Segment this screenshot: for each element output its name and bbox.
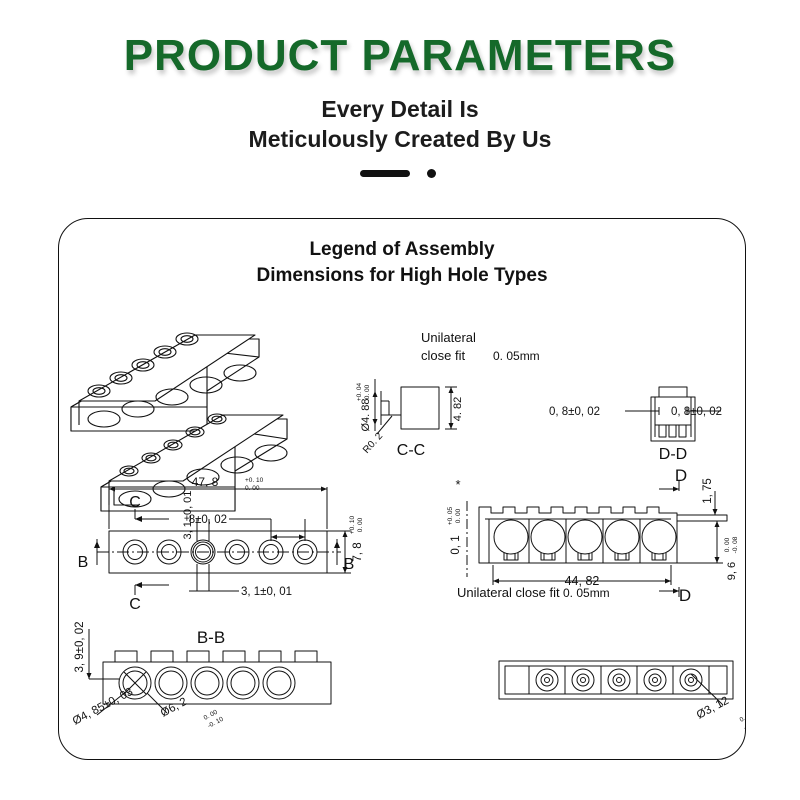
cc-diameter-tol-upper: +0. 04 xyxy=(356,382,363,401)
dd-section-label: D-D xyxy=(659,446,687,463)
side-height-tol-lower: -0. 08 xyxy=(732,536,739,553)
front-marker-c-top: C xyxy=(129,494,141,511)
side-gap-star: * xyxy=(455,477,460,492)
front-hole-b-label: 3, 1±0, 01 xyxy=(241,586,292,598)
front-hole-a-label: 3, 1±0, 01 xyxy=(182,491,194,540)
front-height-tol-upper: +0. 10 xyxy=(349,515,356,534)
page-title: PRODUCT PARAMETERS xyxy=(0,34,800,78)
front-length-label: 47, 8 xyxy=(192,475,219,489)
side-marker-d-top: D xyxy=(675,466,687,485)
subtitle-line-1: Every Detail Is xyxy=(0,94,800,124)
side-height-label: 9, 6 xyxy=(726,562,738,580)
header-divider xyxy=(360,169,440,177)
front-marker-b-left: B xyxy=(78,554,89,571)
front-length-tol-upper: +0. 10 xyxy=(245,477,264,484)
side-gap-tol-upper: +0. 05 xyxy=(447,506,454,525)
section-cc-view xyxy=(373,379,458,434)
dd-dim-right: 0, 8±0, 02 xyxy=(671,406,722,418)
side-top-label: 1, 75 xyxy=(702,478,714,504)
front-marker-b-right: B xyxy=(344,556,355,573)
side-marker-d-bottom: D xyxy=(679,586,691,605)
bottom-right-view xyxy=(499,661,733,705)
side-height-tol-upper: 0. 00 xyxy=(724,537,731,552)
cc-height-label: 4. 82 xyxy=(452,397,464,421)
side-gap-tol-lower: 0. 00 xyxy=(455,508,462,523)
divider-dot-icon xyxy=(427,169,436,178)
page-header: PRODUCT PARAMETERS Every Detail Is Metic… xyxy=(0,0,800,177)
cc-note-line-2: close fit xyxy=(421,348,465,363)
drawing-panel: Legend of Assembly Dimensions for High H… xyxy=(58,218,746,760)
subtitle-line-2: Meticulously Created By Us xyxy=(0,124,800,154)
cc-note-value: 0. 05mm xyxy=(493,349,540,363)
front-height-tol-lower: 0. 00 xyxy=(357,517,364,532)
front-pitch-label: 8±0, 02 xyxy=(189,514,227,526)
bb-depth-label: 3, 9±0, 02 xyxy=(74,621,86,672)
side-note-label: Unilateral close fit xyxy=(457,585,560,600)
side-gap-label: 0, 1 xyxy=(450,535,462,554)
side-note-value: 0. 05mm xyxy=(563,586,610,600)
cc-radius-label: R0. 2 xyxy=(361,430,385,455)
front-marker-c-bottom: C xyxy=(129,596,141,613)
bb-section-label: B-B xyxy=(197,628,225,647)
page-subtitle: Every Detail Is Meticulously Created By … xyxy=(0,94,800,155)
cc-diameter-label: Ø4. 88 xyxy=(360,398,372,431)
cc-note-line-1: Unilateral xyxy=(421,330,476,345)
bottom-diameter-tol-upper: 0. 00 xyxy=(739,711,745,724)
technical-drawing: Ø4. 88 +0. 04 0. 00 4. 82 R0. 2 Unilater… xyxy=(59,219,745,759)
front-length-tol-lower: 0. 00 xyxy=(245,485,260,492)
cc-diameter-tol-lower: 0. 00 xyxy=(364,384,371,399)
dd-dim-left: 0, 8±0, 02 xyxy=(549,406,600,418)
divider-dash-icon xyxy=(360,170,410,177)
cc-section-label: C-C xyxy=(397,442,425,459)
